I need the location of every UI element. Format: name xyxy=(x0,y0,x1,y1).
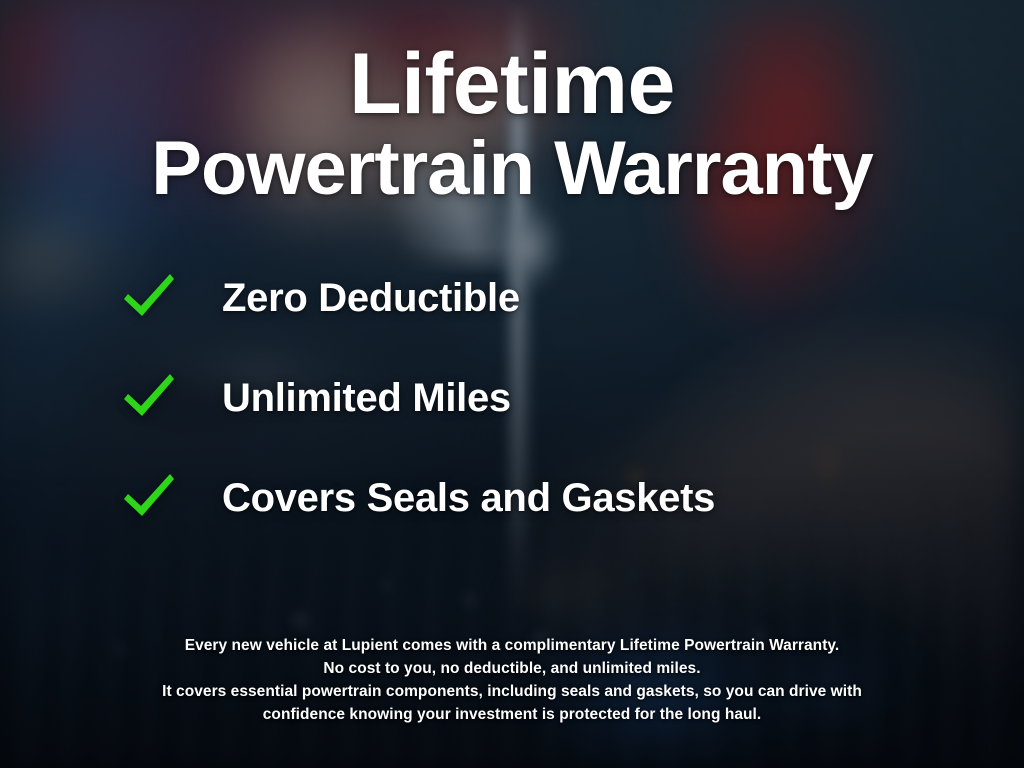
warranty-promo-banner: Lifetime Powertrain Warranty Zero Deduct… xyxy=(0,0,1024,768)
headline-line-1: Lifetime xyxy=(0,40,1024,128)
description-line: confidence knowing your investment is pr… xyxy=(58,703,966,726)
list-item: Unlimited Miles xyxy=(118,348,1024,448)
list-item: Covers Seals and Gaskets xyxy=(118,448,1024,548)
list-item: Zero Deductible xyxy=(118,248,1024,348)
feature-label: Unlimited Miles xyxy=(222,376,511,421)
description-line: Every new vehicle at Lupient comes with … xyxy=(58,634,966,657)
check-icon xyxy=(118,368,178,428)
headline-line-2: Powertrain Warranty xyxy=(0,128,1024,210)
feature-list: Zero Deductible Unlimited Miles Covers S… xyxy=(0,248,1024,548)
description-line: No cost to you, no deductible, and unlim… xyxy=(58,657,966,680)
check-icon xyxy=(118,268,178,328)
description-line: It covers essential powertrain component… xyxy=(58,680,966,703)
description-paragraph: Every new vehicle at Lupient comes with … xyxy=(0,634,1024,726)
check-icon xyxy=(118,468,178,528)
page-title: Lifetime Powertrain Warranty xyxy=(0,0,1024,210)
banner-content: Lifetime Powertrain Warranty Zero Deduct… xyxy=(0,0,1024,768)
feature-label: Covers Seals and Gaskets xyxy=(222,476,715,521)
feature-label: Zero Deductible xyxy=(222,276,520,321)
